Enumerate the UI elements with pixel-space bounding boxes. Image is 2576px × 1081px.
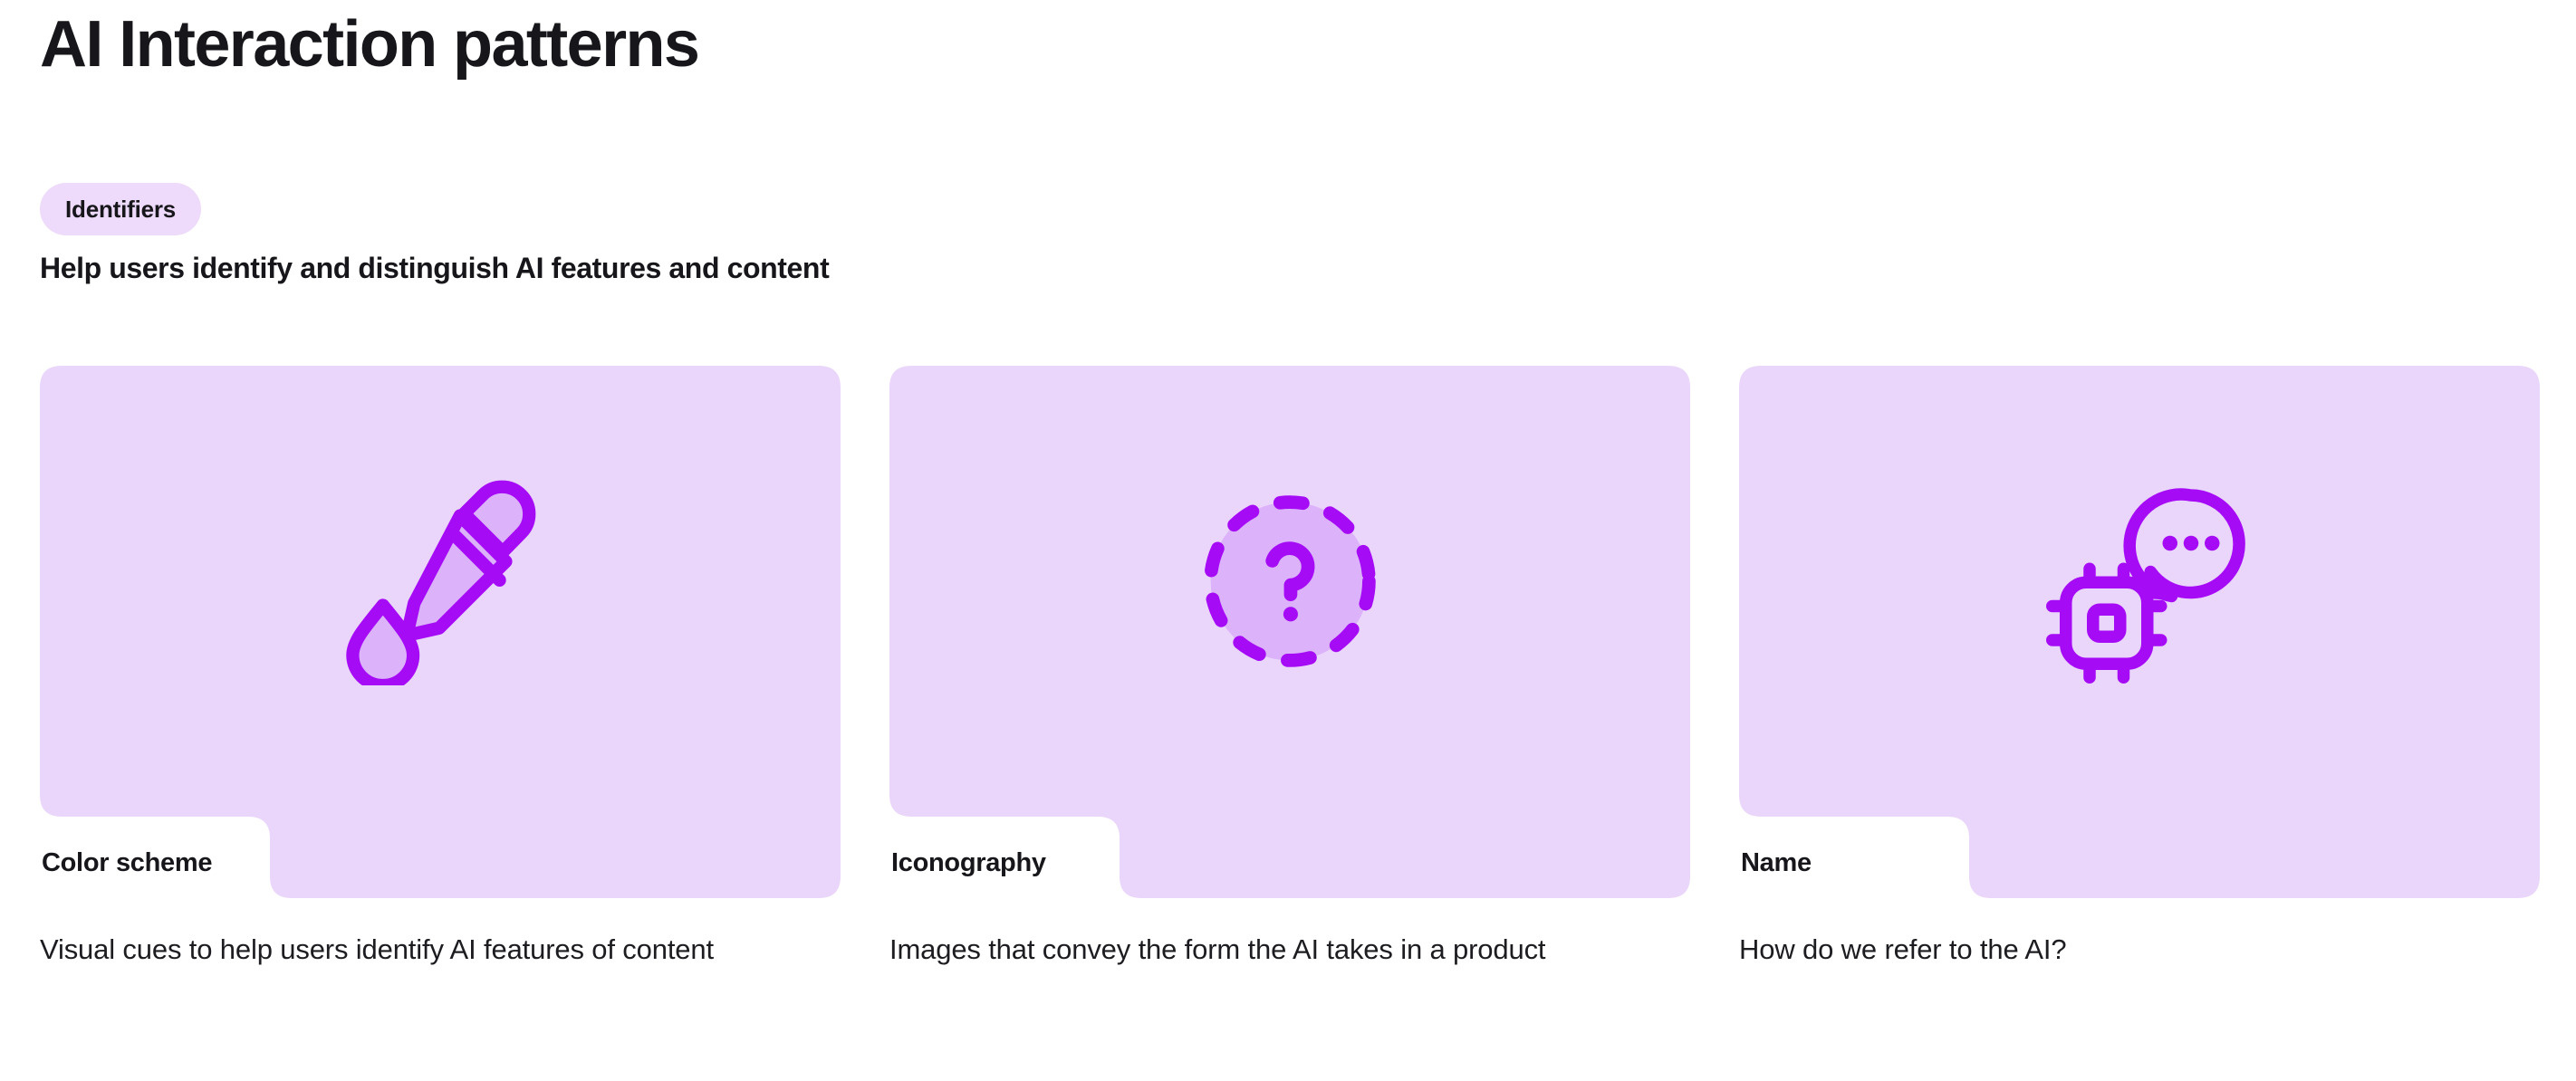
tile-shape: [889, 366, 1690, 898]
card-label: Name: [1741, 848, 1812, 878]
card-description: Visual cues to help users identify AI fe…: [40, 898, 797, 972]
card-color-scheme[interactable]: Color scheme Visual cues to help users i…: [40, 366, 841, 972]
card-tile: Name: [1739, 366, 2540, 898]
card-label: Color scheme: [42, 848, 212, 878]
card-tile: Color scheme: [40, 366, 841, 898]
card-description: Images that convey the form the AI takes…: [889, 898, 1647, 972]
card-description: How do we refer to the AI?: [1739, 898, 2496, 972]
section-badge-identifiers: Identifiers: [40, 183, 201, 235]
card-tile: Iconography: [889, 366, 1690, 898]
card-name[interactable]: Name How do we refer to the AI?: [1739, 366, 2540, 972]
card-grid: Color scheme Visual cues to help users i…: [40, 366, 2536, 972]
tile-shape: [40, 366, 841, 898]
section-subtitle: Help users identify and distinguish AI f…: [40, 252, 829, 285]
card-label: Iconography: [891, 848, 1046, 878]
tile-shape: [1739, 366, 2540, 898]
page-root: AI Interaction patterns Identifiers Help…: [0, 0, 2576, 1081]
page-title: AI Interaction patterns: [40, 11, 698, 80]
card-iconography[interactable]: Iconography Images that convey the form …: [889, 366, 1690, 972]
